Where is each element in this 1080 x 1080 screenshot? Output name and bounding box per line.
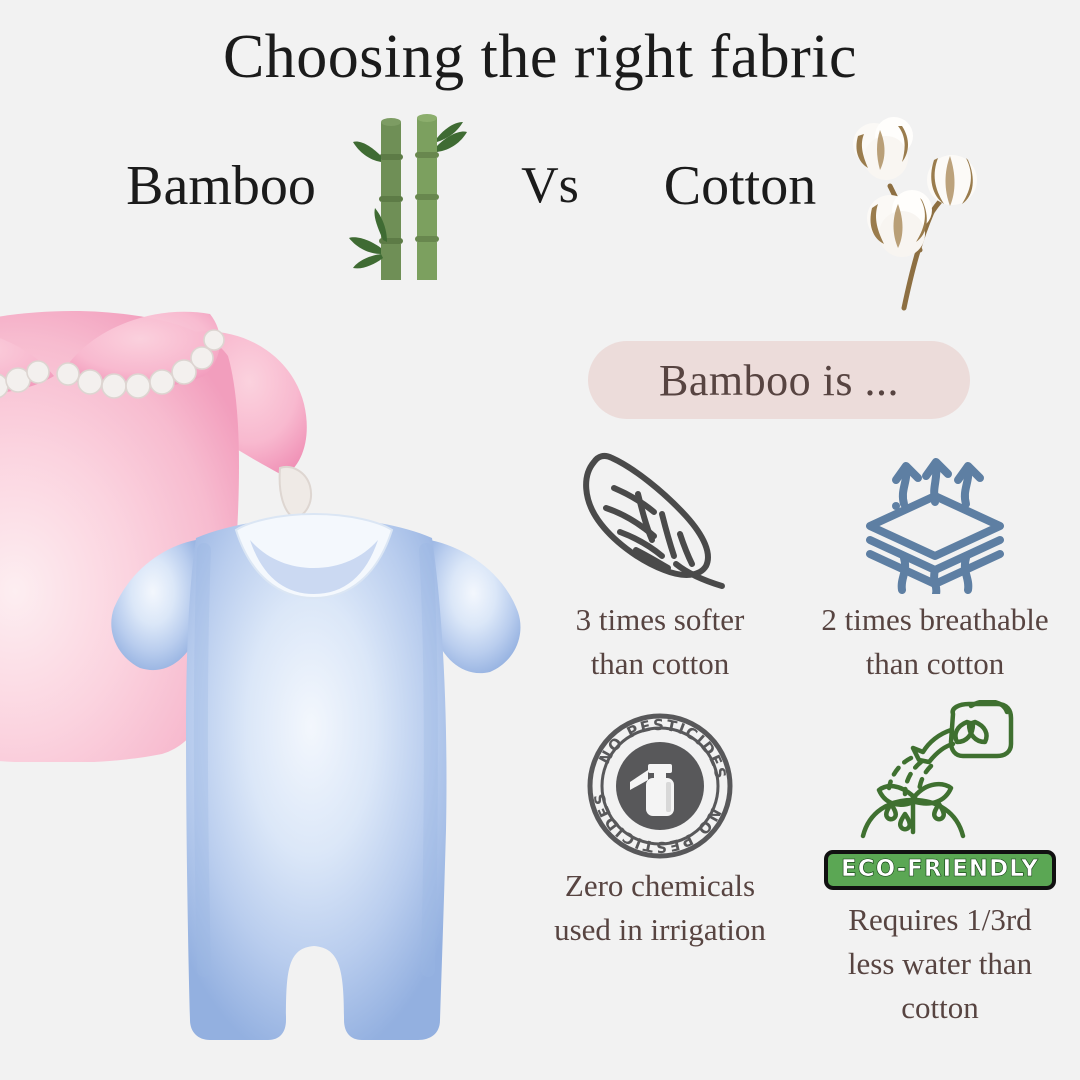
page-title: Choosing the right fabric [0,22,1080,93]
benefit-label: 2 times breathable than cotton [790,598,1080,686]
bamboo-stalks-icon [345,108,475,288]
bamboo-is-badge-label: Bamboo is ... [659,355,899,406]
feather-icon [576,444,744,594]
comparison-separator-label: Vs [495,156,605,215]
benefit-item-breathable: 2 times breathable than cotton [790,444,1080,686]
infographic-canvas: Choosing the right fabric Bamboo Vs Cott… [0,0,1080,1080]
no-pesticides-badge-icon: NO PESTICIDES NO PESTICIDES [586,712,734,860]
comparison-left-label: Bamboo [96,154,346,218]
blue-baby-romper-illustration [100,500,530,1060]
benefit-item-no-pesticides: NO PESTICIDES NO PESTICIDES Zero chemica… [520,712,800,952]
comparison-right-label: Cotton [630,154,850,218]
bamboo-is-badge: Bamboo is ... [588,341,970,419]
benefit-label: Requires 1/3rd less water than cotton [800,898,1080,1030]
benefit-item-softer: 3 times softer than cotton [520,444,800,686]
breathable-fabric-layers-icon [860,444,1010,594]
watering-can-plant-icon [851,700,1029,850]
cotton-branch-icon [828,100,996,322]
benefit-item-less-water: ECO-FRIENDLY Requires 1/3rd less water t… [800,700,1080,1030]
benefit-label: Zero chemicals used in irrigation [520,864,800,952]
benefit-label: 3 times softer than cotton [520,598,800,686]
eco-friendly-badge: ECO-FRIENDLY [824,850,1056,890]
